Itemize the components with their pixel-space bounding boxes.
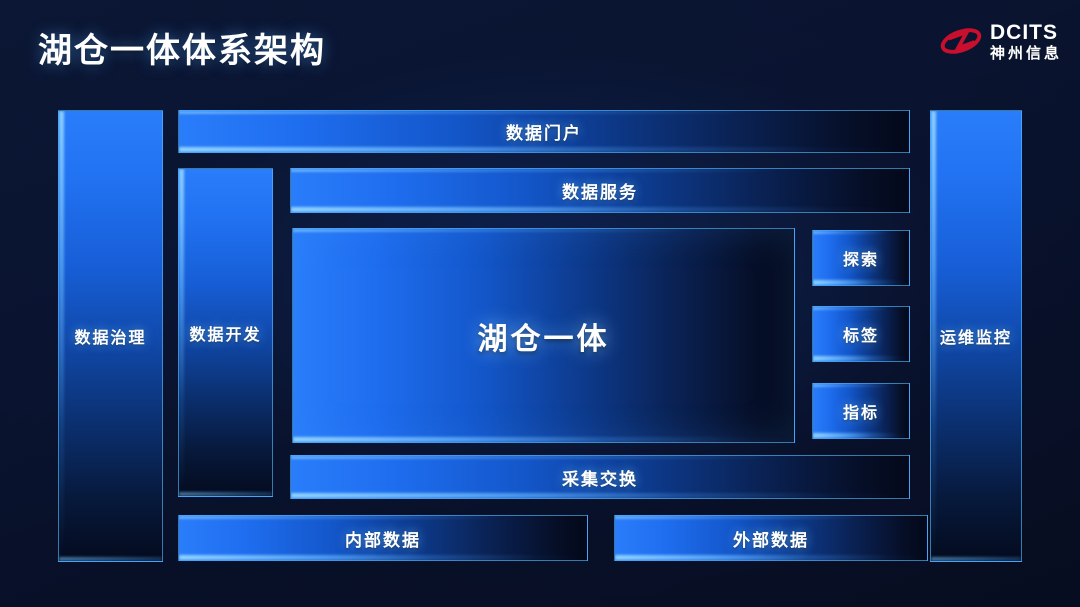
block-data-development-label: 数据开发 xyxy=(189,321,261,345)
block-internal-data-label: 内部数据 xyxy=(345,526,421,551)
block-lakehouse-label: 湖仓一体 xyxy=(478,314,610,358)
block-data-portal[interactable]: 数据门户 xyxy=(178,110,910,153)
block-explore[interactable]: 探索 xyxy=(812,230,910,286)
block-lakehouse[interactable]: 湖仓一体 xyxy=(292,228,795,443)
logo-wordmark: DCITS 神州信息 xyxy=(990,22,1062,61)
block-data-service[interactable]: 数据服务 xyxy=(290,168,910,213)
block-external-data-label: 外部数据 xyxy=(733,526,809,551)
logo-chinese-text: 神州信息 xyxy=(990,46,1062,61)
dcits-swirl-logo-icon xyxy=(939,24,983,58)
block-collect-exchange-label: 采集交换 xyxy=(562,465,638,490)
block-explore-label: 探索 xyxy=(843,246,879,270)
page-title: 湖仓一体体系架构 xyxy=(38,23,326,72)
block-tag-label: 标签 xyxy=(843,322,879,346)
block-data-governance[interactable]: 数据治理 xyxy=(58,110,163,562)
block-tag[interactable]: 标签 xyxy=(812,306,910,362)
block-internal-data[interactable]: 内部数据 xyxy=(178,515,588,561)
block-metric-label: 指标 xyxy=(843,399,879,423)
block-data-governance-label: 数据治理 xyxy=(74,324,146,348)
block-ops-monitor-label: 运维监控 xyxy=(940,324,1012,348)
block-ops-monitor[interactable]: 运维监控 xyxy=(930,110,1022,562)
block-data-service-label: 数据服务 xyxy=(562,178,638,203)
block-data-portal-label: 数据门户 xyxy=(506,119,582,144)
block-external-data[interactable]: 外部数据 xyxy=(614,515,928,561)
architecture-slide: 湖仓一体体系架构 DCITS 神州信息 数据治理 数据开发 数据门户 数据服务 … xyxy=(0,0,1080,607)
block-data-development[interactable]: 数据开发 xyxy=(178,168,273,497)
logo-english-text: DCITS xyxy=(990,22,1062,43)
brand-logo: DCITS 神州信息 xyxy=(939,18,1062,64)
block-collect-exchange[interactable]: 采集交换 xyxy=(290,455,910,499)
block-metric[interactable]: 指标 xyxy=(812,383,910,439)
